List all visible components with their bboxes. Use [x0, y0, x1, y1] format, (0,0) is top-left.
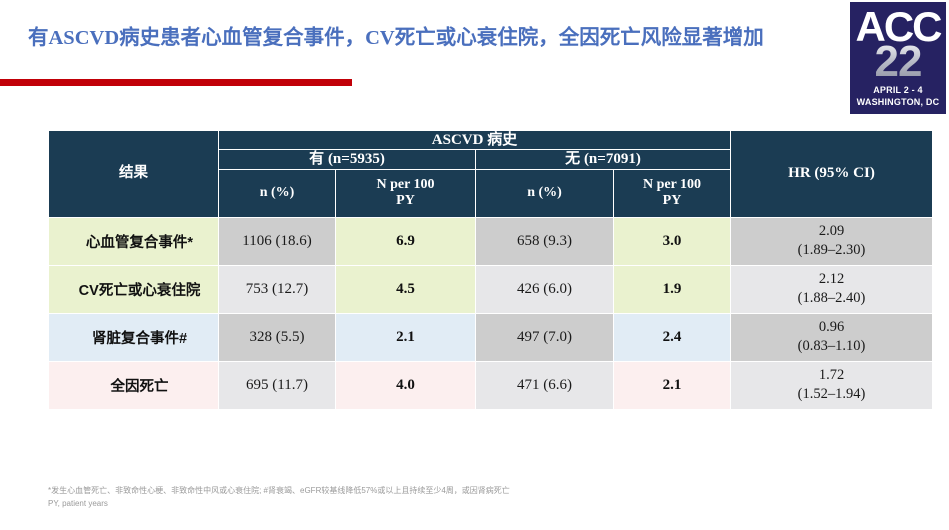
- row-ascvd-no-rate: 2.4: [614, 313, 731, 361]
- row-ascvd-yes-rate: 4.0: [336, 361, 476, 409]
- row-hazard-ratio: 1.72 (1.52–1.94): [731, 361, 933, 409]
- row-ascvd-no-rate: 3.0: [614, 217, 731, 265]
- header-ascvd-group: ASCVD 病史: [219, 131, 731, 150]
- header-ascvd-yes-cjk: 有: [309, 150, 324, 167]
- row-ascvd-no-n: 658 (9.3): [476, 217, 614, 265]
- row-hazard-ratio-value: 2.12: [731, 270, 932, 289]
- header-no-n-pct: n (%): [476, 169, 614, 217]
- title-underline-rule: [0, 79, 352, 86]
- row-ascvd-no-rate: 2.1: [614, 361, 731, 409]
- acc-logo-date-line1: APRIL 2 - 4: [850, 84, 946, 96]
- header-yes-n-pct: n (%): [219, 169, 336, 217]
- header-ascvd-no-n: (n=7091): [580, 151, 641, 167]
- header-yes-rate-line1: N per 100: [376, 177, 434, 192]
- table-header-row-group: 结果 ASCVD 病史 HR (95% CI): [49, 131, 933, 150]
- outcomes-table: 结果 ASCVD 病史 HR (95% CI) 有 (n=5935) 无 (n=…: [48, 130, 933, 410]
- row-ascvd-yes-n: 328 (5.5): [219, 313, 336, 361]
- row-ascvd-no-n: 471 (6.6): [476, 361, 614, 409]
- row-ascvd-yes-n: 753 (12.7): [219, 265, 336, 313]
- row-ascvd-yes-rate: 6.9: [336, 217, 476, 265]
- row-hazard-ratio-value: 0.96: [731, 318, 932, 337]
- header-ascvd-yes: 有 (n=5935): [219, 150, 476, 169]
- row-ascvd-no-n: 497 (7.0): [476, 313, 614, 361]
- acc-logo-date: APRIL 2 - 4 WASHINGTON, DC: [850, 84, 946, 108]
- row-outcome-label: 肾脏复合事件#: [49, 313, 219, 361]
- acc-conference-logo: ACC 22 APRIL 2 - 4 WASHINGTON, DC: [850, 2, 946, 114]
- row-hazard-ratio-ci: (1.89–2.30): [731, 241, 932, 260]
- header-no-rate-line1: N per 100: [643, 177, 701, 192]
- row-hazard-ratio-value: 2.09: [731, 222, 932, 241]
- slide-canvas: 有ASCVD病史患者心血管复合事件，CV死亡或心衰住院，全因死亡风险显著增加 A…: [0, 0, 949, 530]
- acc-logo-date-line2: WASHINGTON, DC: [850, 96, 946, 108]
- header-ascvd-group-latin: ASCVD: [432, 132, 487, 148]
- row-hazard-ratio-ci: (1.88–2.40): [731, 289, 932, 308]
- header-ascvd-no: 无 (n=7091): [476, 150, 731, 169]
- header-ascvd-yes-n: (n=5935): [324, 151, 385, 167]
- header-yes-rate-line2: PY: [396, 193, 415, 208]
- row-ascvd-no-rate: 1.9: [614, 265, 731, 313]
- row-ascvd-yes-rate: 2.1: [336, 313, 476, 361]
- acc-logo-year-text: 22: [850, 40, 946, 84]
- header-hr-95ci: HR (95% CI): [731, 131, 933, 218]
- row-outcome-label: 心血管复合事件*: [49, 217, 219, 265]
- footnote-abbreviations: PY, patient years: [48, 497, 908, 510]
- row-hazard-ratio-ci: (0.83–1.10): [731, 337, 932, 356]
- footnote-definitions: *发生心血管死亡、非致命性心梗、非致命性中风或心衰住院; #肾衰竭、eGFR较基…: [48, 484, 908, 497]
- table-row: 全因死亡 695 (11.7) 4.0 471 (6.6) 2.1 1.72 (…: [49, 361, 933, 409]
- header-no-rate: N per 100 PY: [614, 169, 731, 217]
- header-ascvd-no-cjk: 无: [565, 150, 580, 167]
- row-hazard-ratio: 2.12 (1.88–2.40): [731, 265, 933, 313]
- header-outcome-corner: 结果: [49, 131, 219, 218]
- row-ascvd-no-n: 426 (6.0): [476, 265, 614, 313]
- row-hazard-ratio-value: 1.72: [731, 366, 932, 385]
- page-title: 有ASCVD病史患者心血管复合事件，CV死亡或心衰住院，全因死亡风险显著增加: [28, 26, 828, 52]
- table-row: 肾脏复合事件# 328 (5.5) 2.1 497 (7.0) 2.4 0.96…: [49, 313, 933, 361]
- header-yes-rate: N per 100 PY: [336, 169, 476, 217]
- row-hazard-ratio: 0.96 (0.83–1.10): [731, 313, 933, 361]
- table-row: 心血管复合事件* 1106 (18.6) 6.9 658 (9.3) 3.0 2…: [49, 217, 933, 265]
- row-outcome-label: 全因死亡: [49, 361, 219, 409]
- header-ascvd-group-cjk: 病史: [487, 131, 517, 148]
- row-hazard-ratio: 2.09 (1.89–2.30): [731, 217, 933, 265]
- row-ascvd-yes-n: 1106 (18.6): [219, 217, 336, 265]
- row-outcome-label: CV死亡或心衰住院: [49, 265, 219, 313]
- row-hazard-ratio-ci: (1.52–1.94): [731, 385, 932, 404]
- header-no-rate-line2: PY: [663, 193, 682, 208]
- footnotes: *发生心血管死亡、非致命性心梗、非致命性中风或心衰住院; #肾衰竭、eGFR较基…: [48, 484, 908, 510]
- row-ascvd-yes-rate: 4.5: [336, 265, 476, 313]
- table-row: CV死亡或心衰住院 753 (12.7) 4.5 426 (6.0) 1.9 2…: [49, 265, 933, 313]
- row-ascvd-yes-n: 695 (11.7): [219, 361, 336, 409]
